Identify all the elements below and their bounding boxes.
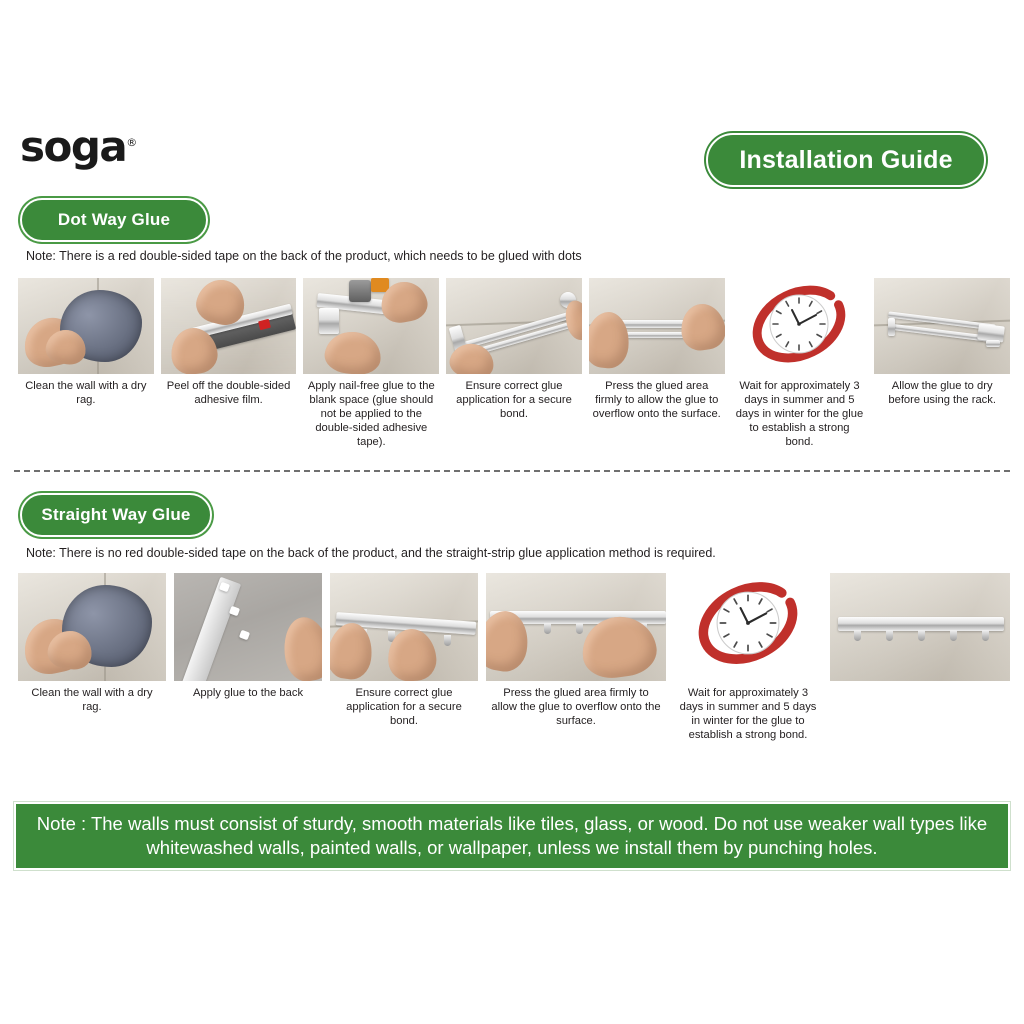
- step-straight-3: Ensure correct glue application for a se…: [330, 573, 478, 728]
- footer-warning-text: Note : The walls must consist of sturdy,…: [30, 812, 994, 861]
- photo-apply-glue-to-back: [174, 573, 322, 681]
- page-header: soga® Installation Guide: [0, 118, 1024, 198]
- step-dot-7: Allow the glue to dry before using the r…: [874, 278, 1010, 407]
- footer-warning-banner: Note : The walls must consist of sturdy,…: [14, 802, 1010, 870]
- photo-strip-straight-way-glue: Clean the wall with a dry rag. Apply glu…: [18, 573, 1010, 742]
- step-dot-4-caption: Ensure correct glue application for a se…: [446, 374, 582, 421]
- step-dot-1: Clean the wall with a dry rag.: [18, 278, 154, 407]
- section-note-dot: Note: There is a red double-sided tape o…: [26, 249, 582, 263]
- step-straight-4: Press the glued area firmly to allow the…: [486, 573, 666, 728]
- section-divider: [14, 470, 1010, 472]
- section-pill-straight-way-glue: Straight Way Glue: [20, 493, 212, 537]
- installation-guide-badge-label: Installation Guide: [739, 146, 952, 175]
- step-dot-7-caption: Allow the glue to dry before using the r…: [874, 374, 1010, 407]
- brand-logo-text: soga: [20, 122, 126, 171]
- step-straight-3-caption: Ensure correct glue application for a se…: [330, 681, 478, 728]
- step-straight-1: Clean the wall with a dry rag.: [18, 573, 166, 714]
- step-dot-3-caption: Apply nail-free glue to the blank space …: [303, 374, 439, 449]
- step-dot-6: Wait for approximately 3 days in summer …: [732, 278, 868, 449]
- photo-apply-nail-free-glue: [303, 278, 439, 374]
- clock-icon: [738, 278, 860, 370]
- photo-clean-wall-with-rag: [18, 278, 154, 374]
- section-pill-label-straight: Straight Way Glue: [41, 505, 190, 525]
- step-straight-5: Wait for approximately 3 days in summer …: [674, 573, 822, 742]
- step-dot-6-caption: Wait for approximately 3 days in summer …: [732, 374, 868, 449]
- step-dot-1-caption: Clean the wall with a dry rag.: [18, 374, 154, 407]
- section-pill-label-dot: Dot Way Glue: [58, 210, 170, 230]
- photo-correct-glue-application: [446, 278, 582, 374]
- section-pill-dot-way-glue: Dot Way Glue: [20, 198, 208, 242]
- step-dot-2-caption: Peel off the double-sided adhesive film.: [161, 374, 297, 407]
- photo-mount-hook-rail: [330, 573, 478, 681]
- step-straight-1-caption: Clean the wall with a dry rag.: [18, 681, 166, 714]
- step-straight-6-caption: [830, 681, 1010, 686]
- photo-press-glued-area: [589, 278, 725, 374]
- photo-press-hook-rail: [486, 573, 666, 681]
- clock-icon: [683, 573, 813, 673]
- section-note-straight: Note: There is no red double-sided tape …: [26, 546, 716, 560]
- photo-finished-towel-rack: [874, 278, 1010, 374]
- step-straight-6: [830, 573, 1010, 686]
- step-straight-5-caption: Wait for approximately 3 days in summer …: [674, 681, 822, 742]
- photo-peel-adhesive-film: [161, 278, 297, 374]
- step-dot-5: Press the glued area firmly to allow the…: [589, 278, 725, 421]
- photo-clean-wall-with-rag: [18, 573, 166, 681]
- trademark-symbol: ®: [126, 136, 137, 149]
- illustration-clock-wait: [732, 278, 868, 374]
- installation-guide-badge: Installation Guide: [706, 133, 986, 187]
- step-dot-2: Peel off the double-sided adhesive film.: [161, 278, 297, 407]
- photo-finished-hook-rail: [830, 573, 1010, 681]
- step-straight-2-caption: Apply glue to the back: [174, 681, 322, 700]
- step-dot-5-caption: Press the glued area firmly to allow the…: [589, 374, 725, 421]
- step-straight-4-caption: Press the glued area firmly to allow the…: [486, 681, 666, 728]
- step-dot-3: Apply nail-free glue to the blank space …: [303, 278, 439, 449]
- brand-logo: soga®: [20, 126, 137, 168]
- photo-strip-dot-way-glue: Clean the wall with a dry rag. Peel off …: [18, 278, 1010, 449]
- step-dot-4: Ensure correct glue application for a se…: [446, 278, 582, 421]
- installation-guide-page: soga® Installation Guide Dot Way Glue No…: [0, 0, 1024, 1024]
- step-straight-2: Apply glue to the back: [174, 573, 322, 700]
- illustration-clock-wait: [674, 573, 822, 681]
